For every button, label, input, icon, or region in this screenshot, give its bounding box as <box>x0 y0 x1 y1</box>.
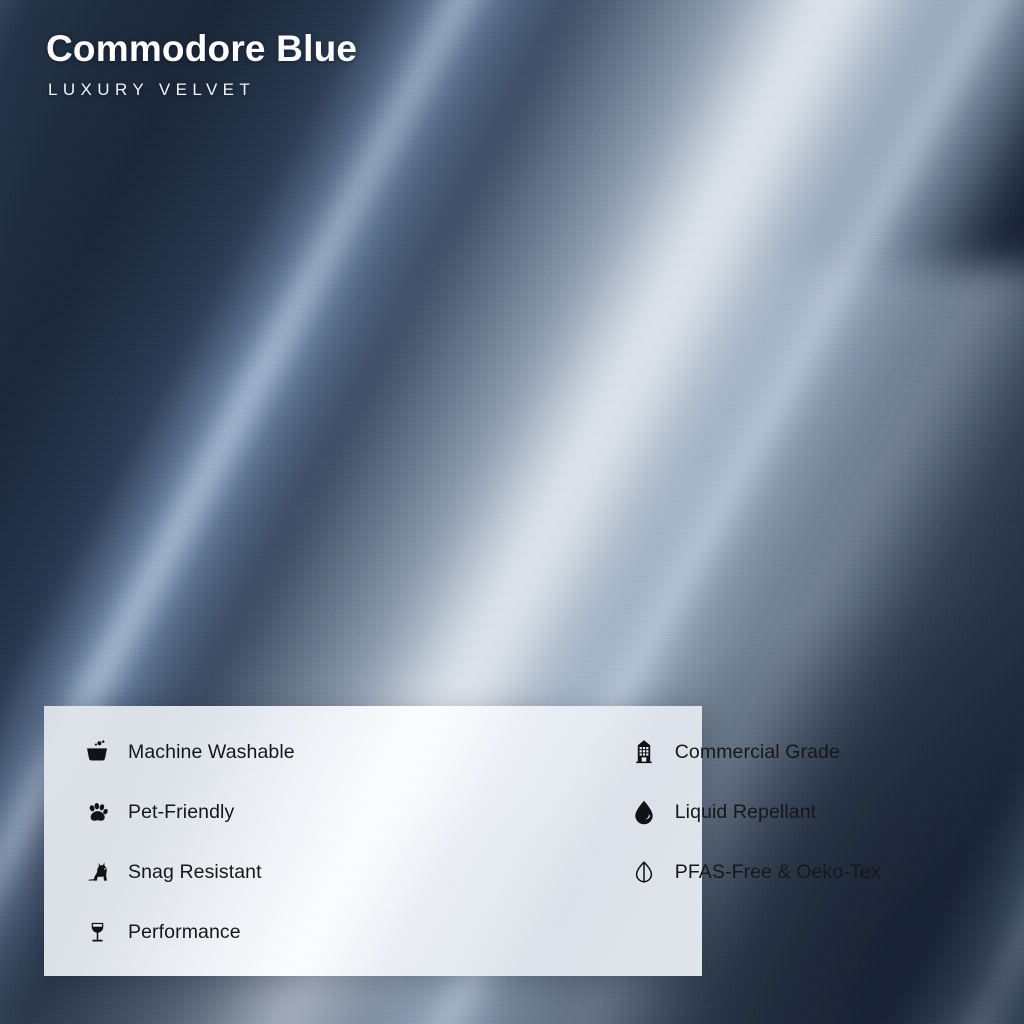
feature-grid: Machine Washable <box>44 706 702 976</box>
feature-label: Commercial Grade <box>675 741 840 764</box>
paw-print-icon <box>82 797 112 827</box>
feature-label: PFAS-Free & Oeko-Tex <box>675 861 881 884</box>
leaf-icon <box>629 857 659 887</box>
feature-item-machine-washable: Machine Washable <box>44 722 295 782</box>
page-title: Commodore Blue <box>46 28 357 71</box>
feature-item-pfas-free-oeko-tex: PFAS-Free & Oeko-Tex <box>295 842 881 902</box>
feature-label: Pet-Friendly <box>128 801 234 824</box>
feature-panel: Machine Washable <box>44 706 702 976</box>
feature-label: Liquid Repellant <box>675 801 816 824</box>
header: Commodore Blue LUXURY VELVET <box>46 28 357 100</box>
page-subtitle: LUXURY VELVET <box>48 80 357 100</box>
feature-item-commercial-grade: Commercial Grade <box>295 722 881 782</box>
feature-item-pet-friendly: Pet-Friendly <box>44 782 295 842</box>
feature-grid-empty-cell <box>295 902 881 962</box>
feature-item-snag-resistant: Snag Resistant <box>44 842 295 902</box>
feature-item-performance: Performance <box>44 902 295 962</box>
wine-glass-icon <box>82 917 112 947</box>
washing-tub-icon <box>82 737 112 767</box>
cat-icon <box>82 857 112 887</box>
building-icon <box>629 737 659 767</box>
product-swatch-card: Commodore Blue LUXURY VELVET Machine Was… <box>0 0 1024 1024</box>
feature-item-liquid-repellant: Liquid Repellant <box>295 782 881 842</box>
feature-label: Performance <box>128 921 241 944</box>
feature-label: Snag Resistant <box>128 861 262 884</box>
feature-label: Machine Washable <box>128 741 295 764</box>
water-droplet-icon <box>629 797 659 827</box>
